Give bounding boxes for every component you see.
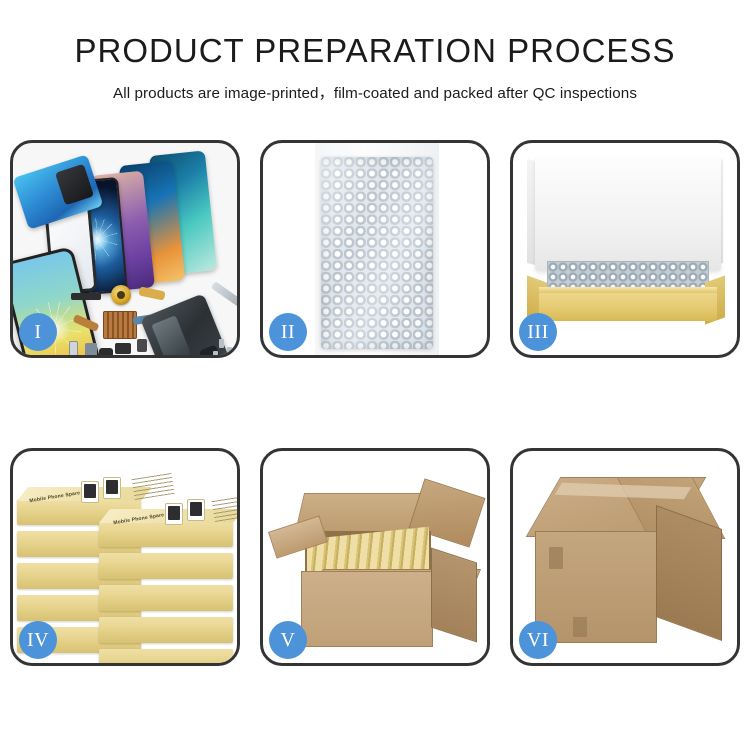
carton-handle-cut-2 (573, 617, 587, 637)
step-badge-6: VI (519, 621, 557, 659)
screw-2-icon (227, 347, 232, 355)
box-white-lid-icon (535, 157, 721, 271)
stacked-box-f5 (99, 649, 233, 663)
box-spec-lines-front (212, 494, 237, 522)
step-badge-1: I (19, 313, 57, 351)
step-panel-4: Mobile Phone Spare Parts Mobile Phone Sp… (10, 448, 240, 666)
step-badge-3: III (519, 313, 557, 351)
chip-part-1-icon (115, 343, 131, 354)
chip-part-3-icon (85, 343, 97, 355)
stacked-box-f3 (99, 585, 233, 611)
step-panel-3: III (510, 140, 740, 358)
chip-part-4-icon (99, 348, 113, 355)
box-screen-art-rear-1 (81, 481, 99, 503)
step-panel-6: VI (510, 448, 740, 666)
sealed-carton-side-face (656, 505, 722, 641)
box-screen-art-rear-2 (103, 477, 121, 499)
product-preparation-infographic: PRODUCT PREPARATION PROCESS All products… (0, 0, 750, 750)
header: PRODUCT PREPARATION PROCESS All products… (0, 0, 750, 103)
step-panel-2: II (260, 140, 490, 358)
copper-grid-part-icon (103, 311, 137, 339)
carton-side-face (431, 548, 477, 643)
sim-tray-part-icon (69, 341, 78, 355)
box-screen-art-front-1 (165, 503, 183, 525)
screw-1-icon (219, 339, 224, 348)
box-yellow-base-icon (539, 291, 717, 321)
carton-handle-cut-1 (549, 547, 563, 569)
page-subtitle: All products are image-printed，film-coat… (0, 81, 750, 103)
screw-3-icon (213, 351, 218, 355)
step-badge-5: V (269, 621, 307, 659)
step-badge-4: IV (19, 621, 57, 659)
box-screen-art-front-2 (187, 499, 205, 521)
box-spec-lines-rear (132, 472, 175, 500)
step-panel-5: V (260, 448, 490, 666)
process-steps-grid: I II III (10, 140, 740, 666)
tweezers-icon (211, 281, 237, 313)
bubble-wrap-sheen (321, 157, 433, 349)
flex-cable-gold-icon (138, 286, 165, 300)
carton-front-face (301, 571, 433, 647)
coil-part-icon (111, 285, 131, 305)
chip-part-2-icon (137, 339, 147, 352)
step-panel-1: I (10, 140, 240, 358)
speaker-bar-part-icon (71, 293, 101, 300)
page-title: PRODUCT PREPARATION PROCESS (0, 34, 750, 69)
step-badge-2: II (269, 313, 307, 351)
stacked-box-f2 (99, 553, 233, 579)
box-rim (539, 287, 717, 293)
stacked-box-f4 (99, 617, 233, 643)
